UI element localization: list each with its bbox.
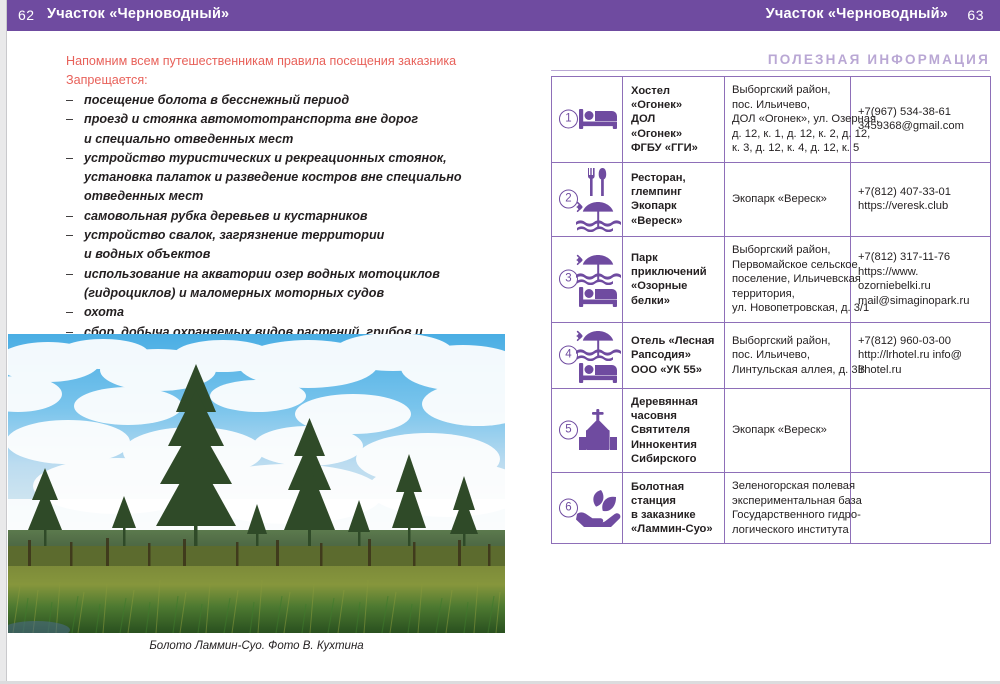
row-name-cell-line: Сибирского <box>631 452 719 466</box>
row-address-cell-line: пос. Ильичево, <box>732 98 843 113</box>
header-title-left: Участок «Черноводный» <box>47 6 229 22</box>
row-icon-cell: 6 <box>552 472 623 543</box>
row-name-cell-line: ООО «УК 55» <box>631 363 719 377</box>
row-icon-cell: 1 <box>552 77 623 163</box>
table-row: 3Парк приключений«Озорные белки»Выборгск… <box>552 236 991 322</box>
rules-item-line: проезд и стоянка автомототранспорта вне … <box>84 110 486 129</box>
row-name-cell-line: ФГБУ «ГГИ» <box>631 141 719 155</box>
row-address-cell: Экопарк «Вереск» <box>725 388 851 472</box>
row-icon-cell: 4 <box>552 322 623 388</box>
row-name-cell-line: Болотная станция <box>631 480 719 508</box>
row-contact-cell: +7(812) 317-11-76https://www.ozorniebelk… <box>851 236 991 322</box>
row-name-cell-line: Рапсодия» <box>631 348 719 362</box>
rules-bullet-dash: – <box>66 207 73 226</box>
row-address-cell-line: экспериментальная база <box>732 494 843 509</box>
rules-bullet-dash: – <box>66 91 73 110</box>
rules-lead-text: Напомним всем путешественникам правила п… <box>66 52 486 71</box>
row-address-cell: Зеленогорская полеваяэкспериментальная б… <box>725 472 851 543</box>
row-icon-cell: 3 <box>552 236 623 322</box>
row-name-cell-line: Парк приключений <box>631 251 719 279</box>
bog-photo <box>8 334 505 633</box>
useful-info-table: 1Хостел «Огонек»ДОЛ«Огонек»ФГБУ «ГГИ»Выб… <box>551 76 991 544</box>
row-address-cell-line: Выборгский район, <box>732 243 843 258</box>
rules-item-line: установка палаток и разведение костров в… <box>84 168 486 187</box>
row-address-cell-line: логического института <box>732 523 843 538</box>
row-icon-stack <box>576 327 620 384</box>
row-name-cell: Ресторан,глемпингЭкопарк «Вереск» <box>623 162 725 236</box>
rules-bullet-dash: – <box>66 303 73 322</box>
bog-photo-image <box>8 334 505 633</box>
row-contact-cell-line: http://lrhotel.ru info@ <box>858 348 983 363</box>
row-address-cell-line: территория, <box>732 287 843 302</box>
row-icon-stack <box>576 167 620 232</box>
rules-item-line: охота <box>84 303 486 322</box>
table-row: 1Хостел «Огонек»ДОЛ«Огонек»ФГБУ «ГГИ»Выб… <box>552 77 991 163</box>
row-contact-cell-line: 3459368@gmail.com <box>858 119 983 134</box>
row-contact-cell-line: mail@simaginopark.ru <box>858 294 983 309</box>
row-name-cell-line: Деревянная <box>631 395 719 409</box>
row-address-cell-line: Зеленогорская полевая <box>732 479 843 494</box>
row-icon-stack <box>576 96 620 142</box>
rules-list-item: –устройство туристических и рекреационны… <box>66 149 486 207</box>
rules-item-line: использование на акватории озер водных м… <box>84 265 486 284</box>
row-contact-cell-line: lrhotel.ru <box>858 363 983 378</box>
row-address-cell-line: Первомайское сельское <box>732 258 843 273</box>
row-name-cell-line: Иннокентия <box>631 438 719 452</box>
row-name-cell: Деревяннаячасовня СвятителяИннокентияСиб… <box>623 388 725 472</box>
row-address-cell: Экопарк «Вереск» <box>725 162 851 236</box>
row-contact-cell: +7(967) 534-38-613459368@gmail.com <box>851 77 991 163</box>
bed-icon <box>578 362 618 384</box>
beach-umbrella-icon <box>574 251 622 285</box>
row-contact-cell <box>851 388 991 472</box>
row-name-cell-line: ДОЛ <box>631 112 719 126</box>
hand-leaf-icon <box>574 489 622 527</box>
row-contact-cell-line: +7(812) 407-33-01 <box>858 185 983 200</box>
row-name-cell-line: Экопарк «Вереск» <box>631 199 719 227</box>
row-name-cell: Парк приключений«Озорные белки» <box>623 236 725 322</box>
rules-section: Напомним всем путешественникам правила п… <box>66 52 486 361</box>
rules-item-line: и специально отведенных мест <box>84 130 486 149</box>
row-name-cell-line: часовня Святителя <box>631 409 719 437</box>
rules-list-item: –самовольная рубка деревьев и кустарнико… <box>66 207 486 226</box>
rules-item-line: устройство туристических и рекреационных… <box>84 149 486 168</box>
beach-umbrella-icon <box>574 198 622 232</box>
bed-icon <box>578 286 618 308</box>
header-title-right: Участок «Черноводный» <box>766 6 948 22</box>
page-edge-left <box>0 0 7 684</box>
rules-item-line: (гидроциклов) и маломерных моторных судо… <box>84 284 486 303</box>
row-contact-cell <box>851 472 991 543</box>
row-contact-cell: +7(812) 960-03-00http://lrhotel.ru info@… <box>851 322 991 388</box>
row-contact-cell-line: +7(812) 960-03-00 <box>858 334 983 349</box>
row-icon-cell: 2 <box>552 162 623 236</box>
rules-bullet-dash: – <box>66 110 73 129</box>
row-name-cell-line: в заказнике <box>631 508 719 522</box>
rules-bullet-dash: – <box>66 149 73 168</box>
page-number-right: 63 <box>967 7 984 23</box>
header-band: 62 Участок «Черноводный» Участок «Чернов… <box>7 0 1000 31</box>
rules-item-line: самовольная рубка деревьев и кустарников <box>84 207 486 226</box>
row-contact-cell-line: https://veresk.club <box>858 199 983 214</box>
row-icon-cell: 5 <box>552 388 623 472</box>
row-address-cell-line: Государственного гидро- <box>732 508 843 523</box>
row-address-cell-line: Экопарк «Вереск» <box>732 192 843 207</box>
row-name-cell: Отель «ЛеснаяРапсодия»ООО «УК 55» <box>623 322 725 388</box>
row-name-cell-line: «Озорные белки» <box>631 279 719 307</box>
row-address-cell: Выборгский район,пос. Ильичево,ДОЛ «Огон… <box>725 77 851 163</box>
rules-subtitle: Запрещается: <box>66 71 486 90</box>
bed-icon <box>578 108 618 130</box>
page-number-left: 62 <box>18 7 35 23</box>
row-name-cell: Хостел «Огонек»ДОЛ«Огонек»ФГБУ «ГГИ» <box>623 77 725 163</box>
table-row: 4Отель «ЛеснаяРапсодия»ООО «УК 55»Выборг… <box>552 322 991 388</box>
cutlery-icon <box>585 167 611 197</box>
row-name-cell-line: «Огонек» <box>631 127 719 141</box>
useful-info-title: ПОЛЕЗНАЯ ИНФОРМАЦИЯ <box>551 52 990 67</box>
row-name-cell-line: «Ламмин-Суо» <box>631 522 719 536</box>
row-name-cell: Болотная станцияв заказнике«Ламмин-Суо» <box>623 472 725 543</box>
rules-bullet-dash: – <box>66 265 73 284</box>
row-address-cell-line: Выборгский район, <box>732 334 843 349</box>
row-address-cell-line: к. 3, д. 12, к. 4, д. 12, к. 5 <box>732 141 843 156</box>
rules-item-line: устройство свалок, загрязнение территори… <box>84 226 486 245</box>
rules-list: –посещение болота в бесснежный период– п… <box>66 91 486 361</box>
table-row: 6Болотная станцияв заказнике«Ламмин-Суо»… <box>552 472 991 543</box>
row-icon-stack <box>576 251 620 308</box>
row-contact-cell-line: ozorniebelki.ru <box>858 279 983 294</box>
row-name-cell-line: Отель «Лесная <box>631 334 719 348</box>
row-address-cell-line: пос. Ильичево, <box>732 348 843 363</box>
rules-list-item: –посещение болота в бесснежный период <box>66 91 486 110</box>
row-address-cell-line: ул. Новопетровская, д. 3/1 <box>732 301 843 316</box>
useful-info-divider <box>551 70 990 71</box>
beach-umbrella-icon <box>574 327 622 361</box>
rules-list-item: –устройство свалок, загрязнение территор… <box>66 226 486 265</box>
table-row: 2Ресторан,глемпингЭкопарк «Вереск»Экопар… <box>552 162 991 236</box>
rules-item-line: и водных объектов <box>84 245 486 264</box>
rules-item-line: посещение болота в бесснежный период <box>84 91 486 110</box>
row-contact-cell-line: +7(967) 534-38-61 <box>858 105 983 120</box>
row-name-cell-line: Ресторан, <box>631 171 719 185</box>
row-address-cell-line: Выборгский район, <box>732 83 843 98</box>
table-row: 5Деревяннаячасовня СвятителяИннокентияСи… <box>552 388 991 472</box>
row-address-cell-line: Экопарк «Вереск» <box>732 423 843 438</box>
rules-list-item: – проезд и стоянка автомототранспорта вн… <box>66 110 486 149</box>
row-icon-stack <box>576 485 620 531</box>
row-icon-stack <box>576 407 620 453</box>
row-contact-cell-line: https://www. <box>858 265 983 280</box>
rules-list-item: –охота <box>66 303 486 322</box>
rules-list-item: –использование на акватории озер водных … <box>66 265 486 304</box>
photo-caption: Болото Ламмин-Суо. Фото В. Кухтина <box>8 640 505 652</box>
row-name-cell-line: глемпинг <box>631 185 719 199</box>
row-address-cell-line: д. 12, к. 1, д. 12, к. 2, д. 12, <box>732 127 843 142</box>
rules-bullet-dash: – <box>66 226 73 245</box>
row-address-cell: Выборгский район,пос. Ильичево,Линтульск… <box>725 322 851 388</box>
row-address-cell-line: Линтульская аллея, д. 3В <box>732 363 843 378</box>
row-name-cell-line: Хостел «Огонек» <box>631 84 719 112</box>
row-address-cell-line: ДОЛ «Огонек», ул. Озерная, <box>732 112 843 127</box>
row-contact-cell: +7(812) 407-33-01https://veresk.club <box>851 162 991 236</box>
row-contact-cell-line: +7(812) 317-11-76 <box>858 250 983 265</box>
magazine-spread: 62 Участок «Черноводный» Участок «Чернов… <box>0 0 1000 684</box>
row-address-cell: Выборгский район,Первомайское сельскоепо… <box>725 236 851 322</box>
row-address-cell-line: поселение, Ильичевская <box>732 272 843 287</box>
chapel-icon <box>575 409 621 451</box>
rules-item-line: отведенных мест <box>84 187 486 206</box>
